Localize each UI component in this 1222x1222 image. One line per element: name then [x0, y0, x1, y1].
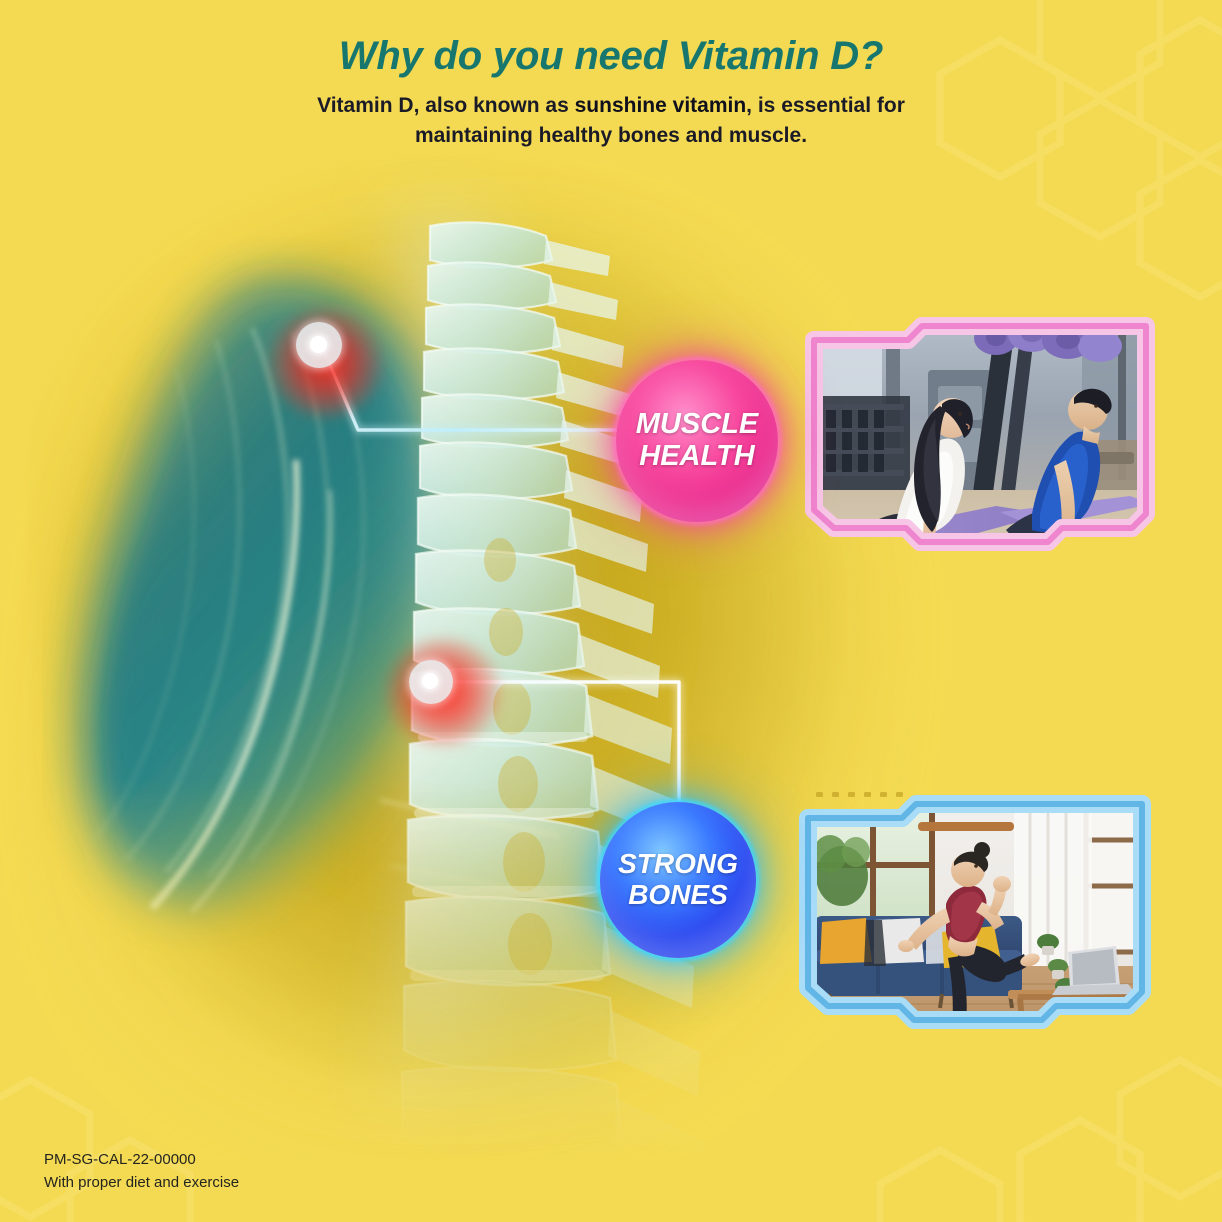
frame-accent-dashes-icon — [816, 792, 903, 797]
badge-bones-line2: BONES — [618, 880, 738, 911]
badge-bones-line1: STRONG — [618, 849, 738, 880]
subtitle-emphasis: sunshine vitamin — [575, 94, 747, 117]
footer: PM-SG-CAL-22-00000 With proper diet and … — [44, 1148, 239, 1195]
vitamin-d-infographic: MUSCLE HEALTH STRONG BONES — [0, 0, 1222, 1222]
footer-disclaimer: With proper diet and exercise — [44, 1171, 239, 1194]
badge-muscle-line1: MUSCLE — [636, 409, 758, 441]
footer-reference-code: PM-SG-CAL-22-00000 — [44, 1148, 239, 1171]
subtitle-part1: Vitamin D, also known as — [317, 94, 575, 117]
page-title: Why do you need Vitamin D? — [0, 34, 1222, 79]
header: Why do you need Vitamin D? Vitamin D, al… — [0, 34, 1222, 150]
photo-card-home-workout[interactable] — [790, 780, 1162, 1070]
photo-card-yoga-couple[interactable] — [800, 300, 1160, 590]
torso-backlight-glow-2 — [120, 620, 900, 1220]
page-subtitle: Vitamin D, also known as sunshine vitami… — [261, 91, 961, 151]
badge-muscle-health[interactable]: MUSCLE HEALTH — [616, 360, 778, 522]
badge-muscle-line2: HEALTH — [636, 441, 758, 473]
badge-strong-bones[interactable]: STRONG BONES — [600, 802, 756, 958]
